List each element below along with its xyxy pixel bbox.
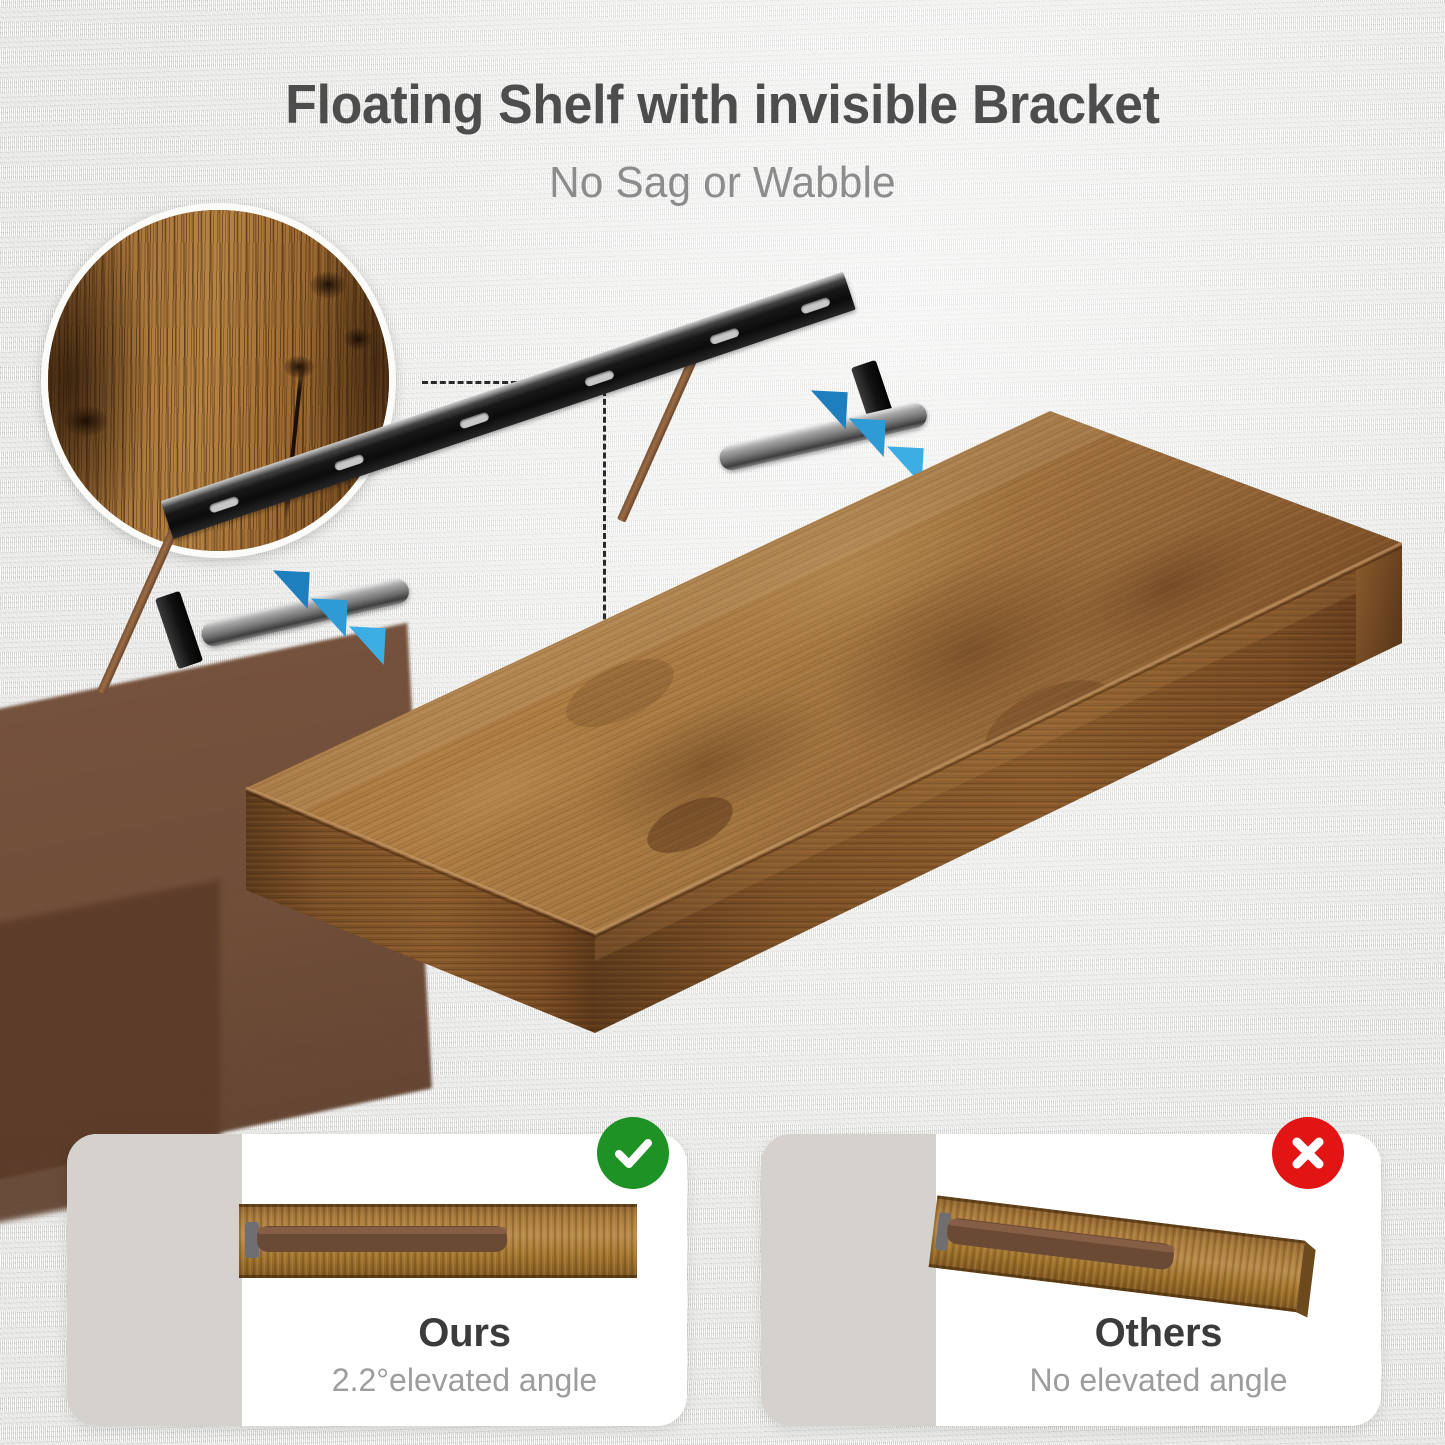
card-title-ours: Ours <box>242 1310 687 1356</box>
wood-knot-icon <box>64 406 108 436</box>
bracket-hole <box>459 411 490 429</box>
bracket-hole <box>208 496 239 514</box>
wood-knot-icon <box>310 272 346 298</box>
bracket-hole <box>709 327 740 345</box>
card-wall-panel <box>67 1134 242 1426</box>
cross-badge <box>1272 1117 1344 1189</box>
invisible-bracket <box>150 380 910 680</box>
cross-icon <box>1287 1132 1329 1174</box>
page-subtitle: No Sag or Wabble <box>29 155 1416 211</box>
wood-knot-icon <box>344 328 372 350</box>
check-icon <box>610 1130 656 1176</box>
card-wall-panel <box>761 1134 936 1426</box>
insertion-arrow-icon <box>349 609 403 665</box>
page-title: Floating Shelf with invisible Bracket <box>43 72 1401 136</box>
bracket-hole <box>800 297 831 315</box>
bracket-hole <box>584 369 615 387</box>
comparison-card-ours[interactable]: Ours 2.2°elevated angle <box>67 1134 687 1426</box>
card-subtitle-ours: 2.2°elevated angle <box>242 1360 687 1400</box>
wood-shading-left <box>41 203 150 558</box>
check-badge <box>597 1117 669 1189</box>
card-subtitle-others: No elevated angle <box>936 1360 1381 1400</box>
bracket-end-plate <box>155 591 203 669</box>
bracket-hole <box>334 454 365 472</box>
product-feature-image: Floating Shelf with invisible Bracket No… <box>0 0 1445 1445</box>
card-title-others: Others <box>936 1310 1381 1356</box>
mini-shelf-ours <box>239 1202 637 1280</box>
mini-shelf-others <box>933 1190 1333 1310</box>
